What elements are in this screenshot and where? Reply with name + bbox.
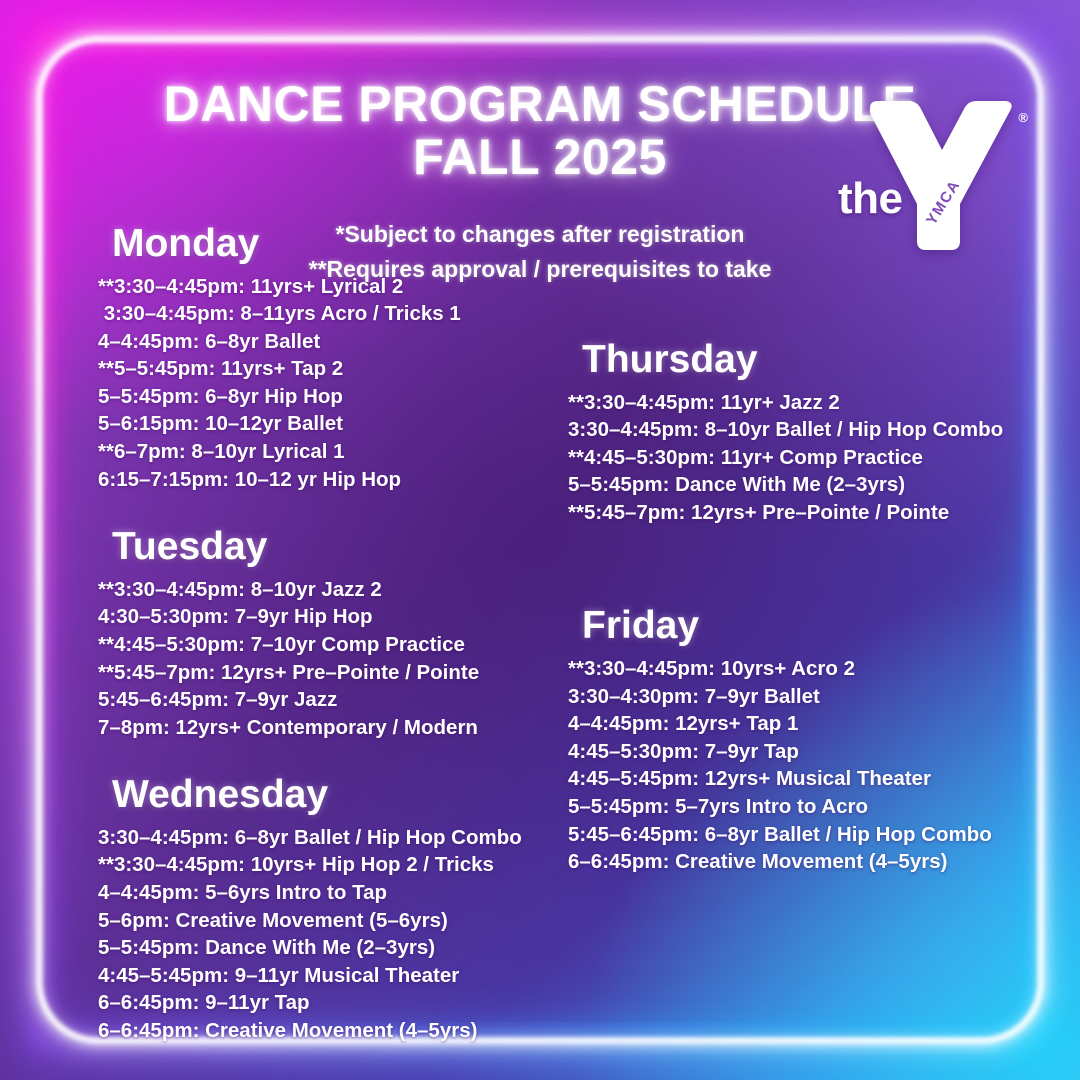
class-item: **5:45–7pm: 12yrs+ Pre–Pointe / Pointe xyxy=(568,499,1038,527)
class-item: 7–8pm: 12yrs+ Contemporary / Modern xyxy=(98,714,538,742)
class-item: **5–5:45pm: 11yrs+ Tap 2 xyxy=(98,355,538,383)
class-item: 4:45–5:45pm: 9–11yr Musical Theater xyxy=(98,962,538,990)
class-item: 5–5:45pm: Dance With Me (2–3yrs) xyxy=(98,934,538,962)
class-item: 4–4:45pm: 12yrs+ Tap 1 xyxy=(568,710,1038,738)
class-item: 3:30–4:45pm: 8–11yrs Acro / Tricks 1 xyxy=(98,300,538,328)
day-heading-friday: Friday xyxy=(582,604,1038,648)
class-item: 4:45–5:45pm: 12yrs+ Musical Theater xyxy=(568,765,1038,793)
class-item: 3:30–4:30pm: 7–9yr Ballet xyxy=(568,683,1038,711)
class-item: **4:45–5:30pm: 11yr+ Comp Practice xyxy=(568,444,1038,472)
class-item: 4–4:45pm: 6–8yr Ballet xyxy=(98,328,538,356)
schedule-column-right: Thursday **3:30–4:45pm: 11yr+ Jazz 2 3:3… xyxy=(568,338,1038,876)
class-item: 6–6:45pm: Creative Movement (4–5yrs) xyxy=(568,848,1038,876)
class-item: 6:15–7:15pm: 10–12 yr Hip Hop xyxy=(98,466,538,494)
class-item: 5:45–6:45pm: 7–9yr Jazz xyxy=(98,686,538,714)
class-list-tuesday: **3:30–4:45pm: 8–10yr Jazz 2 4:30–5:30pm… xyxy=(98,576,538,741)
class-item: 5–5:45pm: Dance With Me (2–3yrs) xyxy=(568,471,1038,499)
ymca-logo: the YMCA ® xyxy=(828,96,1028,266)
registered-trademark-icon: ® xyxy=(1018,110,1028,125)
ymca-y-icon: YMCA xyxy=(864,100,1014,252)
class-item: **3:30–4:45pm: 10yrs+ Acro 2 xyxy=(568,655,1038,683)
schedule-poster: DANCE PROGRAM SCHEDULE FALL 2025 *Subjec… xyxy=(0,0,1080,1080)
day-block-tuesday: Tuesday **3:30–4:45pm: 8–10yr Jazz 2 4:3… xyxy=(98,525,538,741)
class-item: 4:30–5:30pm: 7–9yr Hip Hop xyxy=(98,603,538,631)
schedule-column-left: Monday **3:30–4:45pm: 11yrs+ Lyrical 2 3… xyxy=(98,222,538,1044)
poster-content: DANCE PROGRAM SCHEDULE FALL 2025 *Subjec… xyxy=(0,0,1080,1080)
class-item: 6–6:45pm: Creative Movement (4–5yrs) xyxy=(98,1017,538,1045)
class-list-monday: **3:30–4:45pm: 11yrs+ Lyrical 2 3:30–4:4… xyxy=(98,273,538,494)
class-item: **3:30–4:45pm: 11yrs+ Lyrical 2 xyxy=(98,273,538,301)
day-block-thursday: Thursday **3:30–4:45pm: 11yr+ Jazz 2 3:3… xyxy=(568,338,1038,526)
class-item: 3:30–4:45pm: 6–8yr Ballet / Hip Hop Comb… xyxy=(98,824,538,852)
day-heading-thursday: Thursday xyxy=(582,338,1038,382)
class-item: **4:45–5:30pm: 7–10yr Comp Practice xyxy=(98,631,538,659)
class-item: 5–5:45pm: 5–7yrs Intro to Acro xyxy=(568,793,1038,821)
class-item: 5–6:15pm: 10–12yr Ballet xyxy=(98,410,538,438)
class-list-thursday: **3:30–4:45pm: 11yr+ Jazz 2 3:30–4:45pm:… xyxy=(568,389,1038,527)
class-item: **3:30–4:45pm: 10yrs+ Hip Hop 2 / Tricks xyxy=(98,851,538,879)
class-item: 3:30–4:45pm: 8–10yr Ballet / Hip Hop Com… xyxy=(568,416,1038,444)
class-list-friday: **3:30–4:45pm: 10yrs+ Acro 2 3:30–4:30pm… xyxy=(568,655,1038,876)
class-list-wednesday: 3:30–4:45pm: 6–8yr Ballet / Hip Hop Comb… xyxy=(98,824,538,1045)
day-block-friday: Friday **3:30–4:45pm: 10yrs+ Acro 2 3:30… xyxy=(568,604,1038,875)
class-item: 4:45–5:30pm: 7–9yr Tap xyxy=(568,738,1038,766)
day-heading-tuesday: Tuesday xyxy=(112,525,538,569)
class-item: 5–6pm: Creative Movement (5–6yrs) xyxy=(98,907,538,935)
class-item: **5:45–7pm: 12yrs+ Pre–Pointe / Pointe xyxy=(98,659,538,687)
class-item: 5–5:45pm: 6–8yr Hip Hop xyxy=(98,383,538,411)
day-heading-monday: Monday xyxy=(112,222,538,266)
class-item: 6–6:45pm: 9–11yr Tap xyxy=(98,989,538,1017)
day-block-monday: Monday **3:30–4:45pm: 11yrs+ Lyrical 2 3… xyxy=(98,222,538,493)
day-block-wednesday: Wednesday 3:30–4:45pm: 6–8yr Ballet / Hi… xyxy=(98,773,538,1044)
class-item: 5:45–6:45pm: 6–8yr Ballet / Hip Hop Comb… xyxy=(568,821,1038,849)
class-item: 4–4:45pm: 5–6yrs Intro to Tap xyxy=(98,879,538,907)
class-item: **6–7pm: 8–10yr Lyrical 1 xyxy=(98,438,538,466)
title-line-1: DANCE PROGRAM SCHEDULE xyxy=(164,76,917,132)
day-heading-wednesday: Wednesday xyxy=(112,773,538,817)
class-item: **3:30–4:45pm: 11yr+ Jazz 2 xyxy=(568,389,1038,417)
class-item: **3:30–4:45pm: 8–10yr Jazz 2 xyxy=(98,576,538,604)
